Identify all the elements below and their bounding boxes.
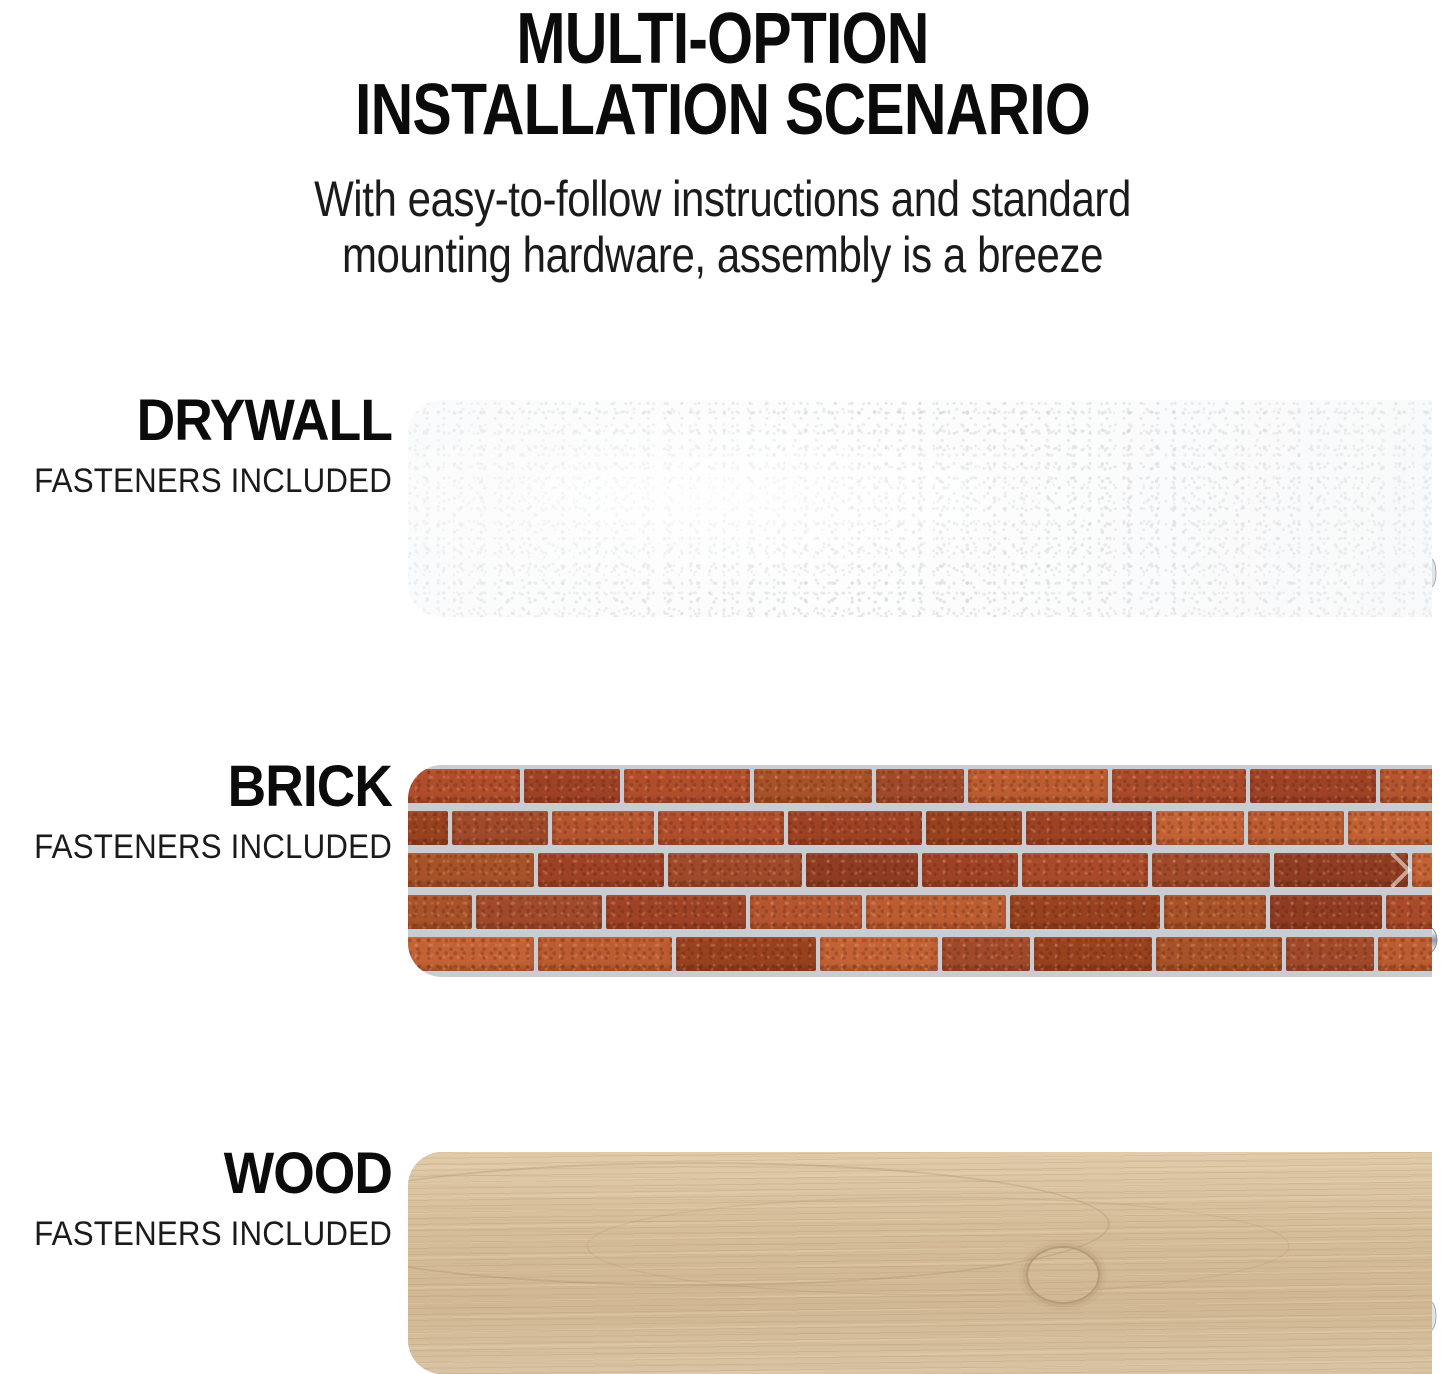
brick-unit: [1112, 769, 1246, 803]
brick-unit: [408, 769, 520, 803]
wood-grain-arc-2: [588, 1198, 1288, 1294]
brick-unit: [1156, 811, 1244, 845]
brick-unit: [1026, 811, 1152, 845]
brick-unit: [968, 769, 1108, 803]
brick-unit: [820, 937, 938, 971]
section-wood: WOOD FASTENERS INCLUDED: [0, 1145, 1445, 1367]
page-subtitle: With easy-to-follow instructions and sta…: [116, 171, 1330, 283]
wood-fasteners-label: FASTENERS INCLUDED: [31, 1217, 392, 1251]
brick-course: [408, 975, 1432, 977]
brick-unit: [538, 937, 672, 971]
wood-knot: [1028, 1248, 1098, 1302]
brick-surface-swatch: [408, 765, 1432, 977]
brick-unit: [1250, 769, 1376, 803]
brick-unit: [606, 895, 746, 929]
section-brick: BRICK FASTENERS INCLUDED: [0, 758, 1445, 980]
brick-unit: [942, 937, 1030, 971]
subtitle-line-2: mounting hardware, assembly is a breeze: [116, 227, 1330, 283]
brick-texture: [408, 765, 1432, 977]
brick-unit: [538, 853, 664, 887]
brick-unit: [1412, 853, 1432, 887]
brick-course: [408, 849, 1432, 891]
brick-unit: [408, 811, 448, 845]
brick-unit: [676, 937, 816, 971]
section-drywall: DRYWALL FASTENERS INCLUDED: [0, 392, 1445, 624]
brick-unit: [452, 811, 548, 845]
brick-unit: [1010, 895, 1160, 929]
drywall-heading: DRYWALL: [31, 392, 392, 450]
title-line-2: INSTALLATION SCENARIO: [130, 75, 1315, 146]
brick-unit: [750, 895, 862, 929]
brick-unit: [788, 811, 922, 845]
brick-unit: [806, 853, 918, 887]
brick-unit: [624, 769, 750, 803]
brick-unit: [476, 895, 602, 929]
brick-unit: [668, 853, 802, 887]
brick-unit: [1380, 769, 1432, 803]
brick-unit: [1022, 853, 1148, 887]
wood-heading: WOOD: [31, 1145, 392, 1203]
brick-heading: BRICK: [31, 758, 392, 816]
subtitle-line-1: With easy-to-follow instructions and sta…: [314, 171, 1131, 227]
title-line-1: MULTI-OPTION: [516, 0, 928, 79]
brick-unit: [1034, 937, 1152, 971]
brick-unit: [1152, 853, 1270, 887]
brick-course: [408, 807, 1432, 849]
brick-course: [408, 765, 1432, 807]
wood-surface-swatch: [408, 1152, 1432, 1374]
brick-unit: [524, 769, 620, 803]
brick-unit: [1248, 811, 1344, 845]
brick-course: [408, 933, 1432, 975]
brick-unit: [552, 811, 654, 845]
brick-unit: [1378, 937, 1432, 971]
drywall-surface-swatch: [408, 400, 1432, 617]
brick-unit: [876, 769, 964, 803]
brick-unit: [1156, 937, 1282, 971]
drywall-fasteners-label: FASTENERS INCLUDED: [31, 464, 392, 498]
header: MULTI-OPTION INSTALLATION SCENARIO With …: [0, 0, 1445, 283]
wood-texture: [408, 1152, 1432, 1374]
brick-unit: [658, 811, 784, 845]
brick-course: [408, 891, 1432, 933]
drywall-texture: [408, 400, 1432, 617]
brick-fasteners-label: FASTENERS INCLUDED: [31, 830, 392, 864]
brick-unit: [1164, 895, 1266, 929]
brick-unit: [1386, 895, 1432, 929]
page-title: MULTI-OPTION INSTALLATION SCENARIO: [130, 4, 1315, 145]
brick-unit: [922, 853, 1018, 887]
brick-unit: [408, 853, 534, 887]
drywall-label-column: DRYWALL FASTENERS INCLUDED: [0, 392, 392, 498]
brick-label-column: BRICK FASTENERS INCLUDED: [0, 758, 392, 864]
brick-unit: [1270, 895, 1382, 929]
wood-label-column: WOOD FASTENERS INCLUDED: [0, 1145, 392, 1251]
brick-unit: [1286, 937, 1374, 971]
brick-unit: [926, 811, 1022, 845]
brick-unit: [866, 895, 1006, 929]
brick-unit: [408, 895, 472, 929]
brick-unit: [408, 937, 534, 971]
brick-unit: [754, 769, 872, 803]
brick-unit: [1348, 811, 1432, 845]
